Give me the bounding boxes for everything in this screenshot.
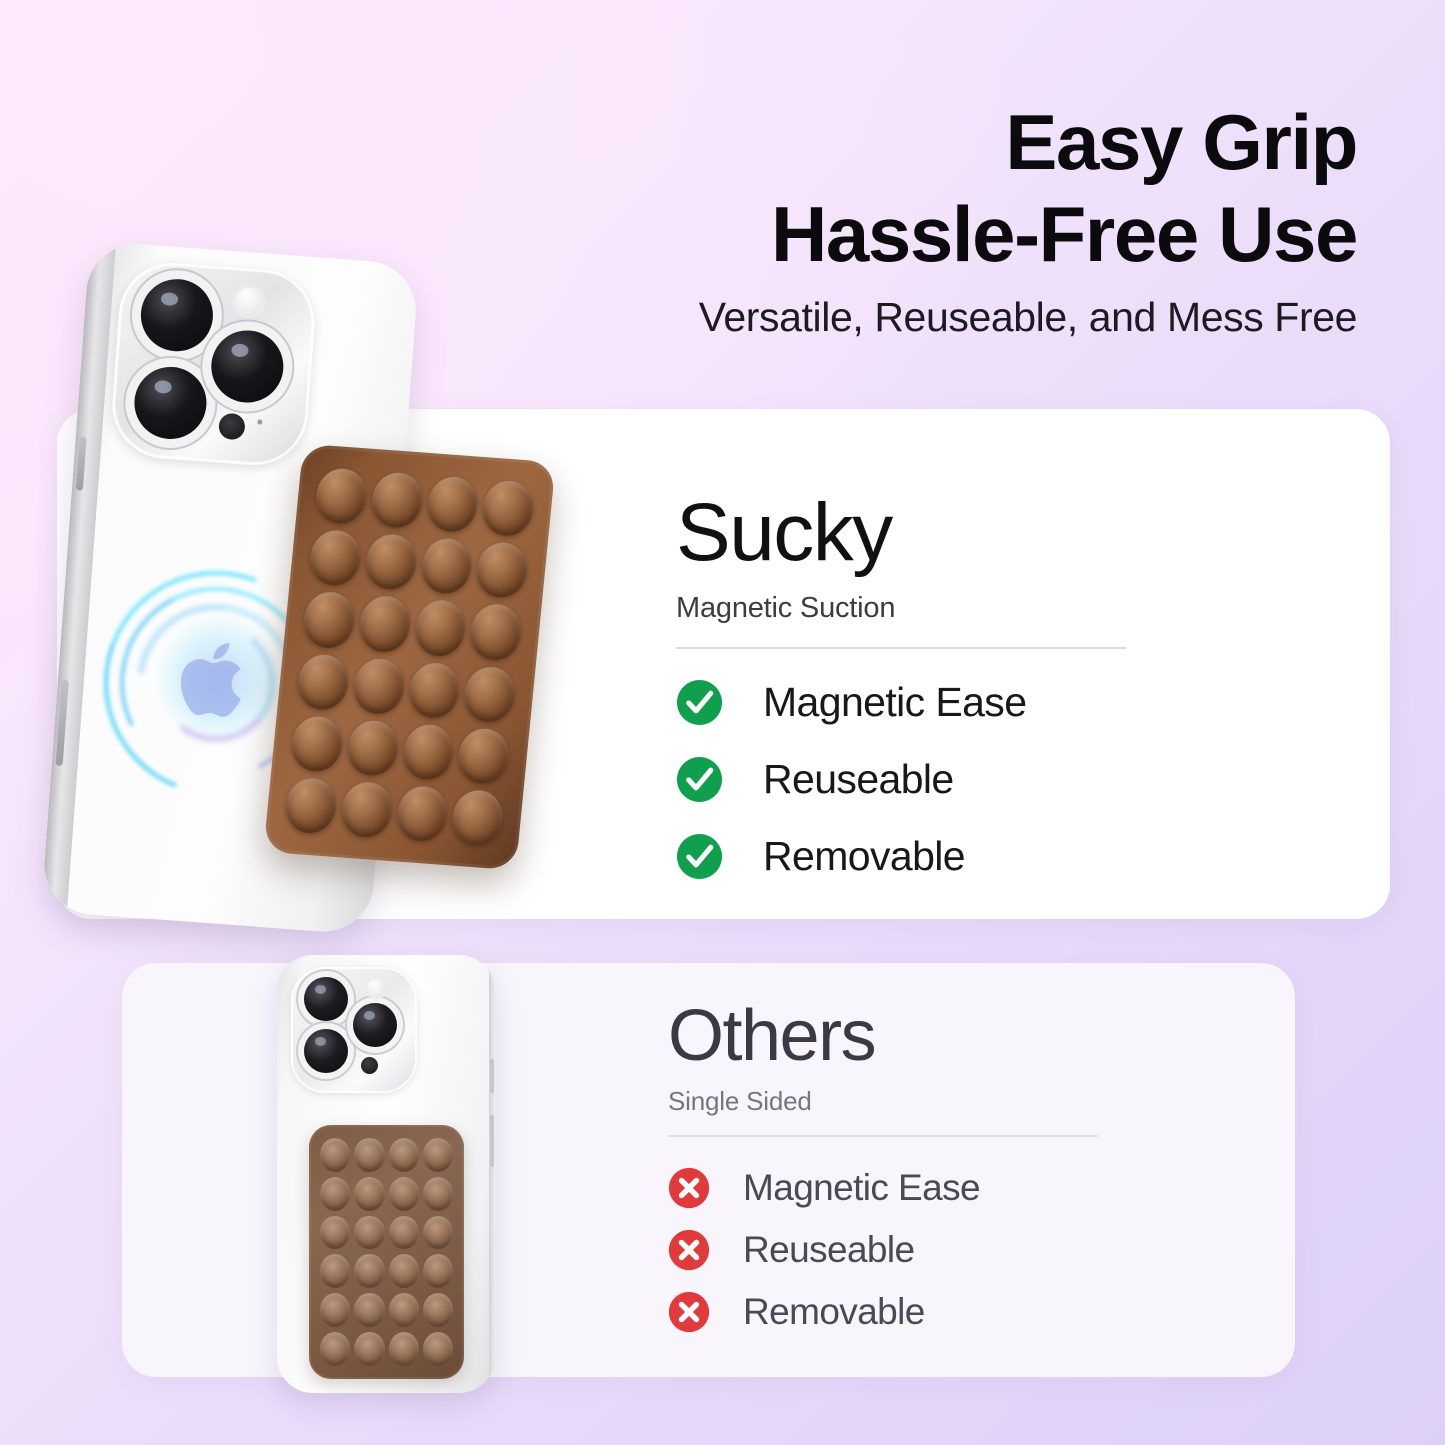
camera-lens-icon: [353, 1003, 397, 1047]
suction-cup: [395, 784, 450, 843]
suction-cup: [425, 475, 480, 534]
suction-cup: [302, 591, 357, 650]
suction-cup: [320, 1138, 350, 1172]
suction-cup: [283, 776, 338, 835]
apple-logo-icon: [175, 630, 260, 727]
camera-flash-icon: [365, 977, 387, 999]
suction-cup: [413, 599, 468, 658]
others-feature-list: Magnetic Ease Reuseable Removable: [668, 1167, 1098, 1333]
headline-line-1: Easy Grip: [457, 96, 1357, 188]
suction-cup: [345, 718, 400, 777]
check-circle-icon: [676, 756, 723, 803]
suction-cup: [320, 1216, 350, 1250]
camera-lens-icon: [138, 277, 215, 354]
suction-pad-sucky: [263, 444, 555, 871]
sucky-feature-list: Magnetic Ease Reuseable Removable: [676, 679, 1126, 880]
suction-cup: [320, 1293, 350, 1327]
phone-volume-button: [490, 1059, 494, 1093]
suction-cup: [389, 1138, 419, 1172]
others-title: Others: [668, 1000, 1098, 1072]
feature-row: Removable: [668, 1291, 1098, 1333]
suction-cup: [320, 1332, 350, 1366]
camera-lens-icon: [132, 364, 209, 441]
cross-circle-icon: [668, 1167, 710, 1209]
sucky-subtitle: Magnetic Suction: [676, 592, 1126, 625]
phone-body: [277, 955, 495, 1393]
suction-cup: [450, 789, 505, 848]
camera-flash-icon: [231, 283, 267, 319]
feature-row: Magnetic Ease: [668, 1167, 1098, 1209]
suction-cup: [423, 1216, 453, 1250]
suction-cup: [354, 1254, 384, 1288]
suction-cup: [423, 1138, 453, 1172]
suction-cup: [389, 1216, 419, 1250]
suction-cup: [296, 653, 351, 712]
lidar-sensor-icon: [218, 413, 246, 441]
suction-cup: [320, 1254, 350, 1288]
feature-label: Removable: [763, 833, 965, 880]
suction-cup: [369, 471, 424, 530]
suction-cup: [389, 1254, 419, 1288]
camera-lens-icon: [209, 328, 286, 405]
suction-cup: [339, 780, 394, 839]
suction-cup: [389, 1332, 419, 1366]
feature-label: Reuseable: [743, 1229, 915, 1271]
suction-cup: [423, 1177, 453, 1211]
suction-cup: [351, 657, 406, 716]
check-circle-icon: [676, 679, 723, 726]
suction-pad-others: [309, 1125, 464, 1379]
suction-cup: [423, 1254, 453, 1288]
others-subtitle: Single Sided: [668, 1086, 1098, 1117]
feature-row: Reuseable: [676, 756, 1126, 803]
suction-cup: [354, 1138, 384, 1172]
divider: [676, 647, 1126, 649]
sucky-title: Sucky: [676, 492, 1126, 574]
suction-cup: [456, 727, 511, 786]
feature-row: Magnetic Ease: [676, 679, 1126, 726]
suction-cup: [354, 1216, 384, 1250]
suction-cup: [389, 1293, 419, 1327]
phone-side-rail: [489, 955, 495, 1393]
suction-cup: [401, 723, 456, 782]
suction-cup: [419, 537, 474, 596]
camera-module: [291, 967, 417, 1093]
suction-cup: [423, 1332, 453, 1366]
feature-label: Magnetic Ease: [763, 679, 1026, 726]
cross-circle-icon: [668, 1229, 710, 1271]
microphone-dot-icon: [257, 419, 262, 424]
others-product-image: [277, 955, 495, 1393]
feature-label: Magnetic Ease: [743, 1167, 980, 1209]
check-circle-icon: [676, 833, 723, 880]
cross-circle-icon: [668, 1291, 710, 1333]
phone-power-button: [490, 1115, 494, 1167]
suction-cup: [354, 1177, 384, 1211]
suction-cup: [475, 541, 530, 600]
feature-label: Reuseable: [763, 756, 954, 803]
feature-row: Removable: [676, 833, 1126, 880]
suction-cup: [389, 1177, 419, 1211]
lidar-sensor-icon: [361, 1057, 378, 1074]
camera-lens-icon: [304, 977, 348, 1021]
others-feature-panel: Others Single Sided Magnetic Ease Reusea…: [668, 1000, 1098, 1353]
suction-cup: [320, 1177, 350, 1211]
camera-module: [109, 259, 319, 469]
feature-row: Reuseable: [668, 1229, 1098, 1271]
suction-cup: [289, 714, 344, 773]
suction-cup: [314, 467, 369, 526]
suction-cup: [308, 529, 363, 588]
suction-cup: [462, 665, 517, 724]
suction-cup: [423, 1293, 453, 1327]
suction-cup: [363, 533, 418, 592]
sucky-feature-panel: Sucky Magnetic Suction Magnetic Ease Reu…: [676, 492, 1126, 910]
header-block: Easy Grip Hassle-Free Use Versatile, Reu…: [457, 96, 1357, 342]
suction-cup: [481, 479, 536, 538]
divider: [668, 1135, 1098, 1137]
suction-cup: [357, 595, 412, 654]
suction-cup: [354, 1293, 384, 1327]
suction-cup: [407, 661, 462, 720]
infographic-canvas: Easy Grip Hassle-Free Use Versatile, Reu…: [0, 0, 1445, 1445]
suction-cup: [354, 1332, 384, 1366]
phone-side-rail: [41, 241, 116, 913]
feature-label: Removable: [743, 1291, 925, 1333]
camera-lens-icon: [304, 1029, 348, 1073]
headline-line-2: Hassle-Free Use: [457, 188, 1357, 280]
headline-subtitle: Versatile, Reuseable, and Mess Free: [457, 292, 1357, 342]
suction-cup: [468, 603, 523, 662]
